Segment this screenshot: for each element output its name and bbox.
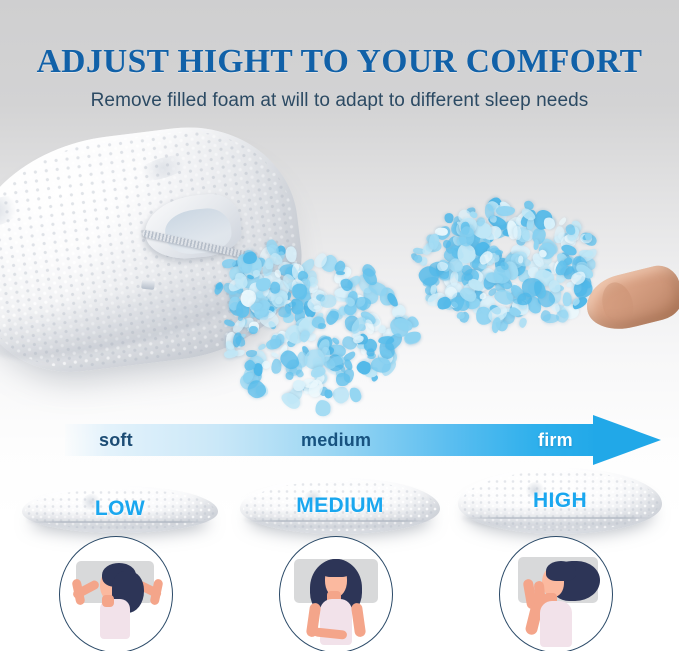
header: ADJUST HIGHT TO YOUR COMFORT Remove fill… <box>0 42 679 113</box>
foam-spill <box>196 224 426 406</box>
foam-fleck <box>224 318 236 327</box>
foam-fleck <box>495 250 503 256</box>
hair-top <box>546 561 576 581</box>
foam-fleck <box>330 384 352 405</box>
foam-fleck <box>324 389 333 399</box>
foam-fleck <box>292 284 307 300</box>
hair-top <box>321 559 351 577</box>
woman-with-high-pillow-icon <box>500 537 612 651</box>
woman-with-medium-pillow-icon <box>280 537 392 651</box>
pillow-logo-emboss-secondary <box>133 150 194 186</box>
foam-fleck <box>336 373 350 386</box>
foam-fleck <box>245 349 257 357</box>
illustration-row <box>0 536 679 651</box>
pillow-medium: MEDIUM <box>240 478 440 534</box>
foam-fleck <box>278 306 292 317</box>
garment <box>540 601 572 647</box>
zipper-pull-icon <box>141 280 155 290</box>
foam-fleck <box>317 323 326 329</box>
hand-photo <box>581 261 679 337</box>
foam-fleck <box>518 317 528 328</box>
page-subtitle: Remove filled foam at will to adapt to d… <box>0 89 679 113</box>
foam-fleck <box>269 334 280 349</box>
arm-right <box>351 602 367 637</box>
foam-fleck <box>496 206 516 216</box>
foam-fleck <box>270 282 280 294</box>
pillow-seam <box>248 520 432 522</box>
pillow-seam <box>30 521 210 523</box>
foam-fleck <box>285 246 297 263</box>
pillow-high: HIGH <box>458 468 662 534</box>
pillow-logo-emboss <box>0 190 26 232</box>
pillow-label-low: LOW <box>22 498 218 520</box>
illustration-low <box>59 536 173 651</box>
neck <box>102 595 114 607</box>
firmness-label-medium: medium <box>301 430 371 450</box>
foam-fleck <box>562 292 571 306</box>
firmness-label-soft: soft <box>99 430 133 450</box>
pillow-low: LOW <box>22 486 218 533</box>
illustration-high <box>499 536 613 651</box>
pillow-label-high: HIGH <box>458 490 662 512</box>
infographic-page: ADJUST HIGHT TO YOUR COMFORT Remove fill… <box>0 0 679 651</box>
foam-fleck <box>223 349 238 359</box>
foam-clump-in-hand <box>404 186 636 346</box>
pillow-seam <box>466 517 654 519</box>
foam-fleck <box>249 326 258 334</box>
illustration-medium <box>279 536 393 651</box>
foam-fleck <box>286 372 294 380</box>
firmness-label-firm: firm <box>538 430 573 450</box>
foam-fleck <box>558 216 567 226</box>
foam-fleck <box>543 216 557 231</box>
pillow-label-medium: MEDIUM <box>240 495 440 517</box>
foam-fleck <box>270 351 279 358</box>
page-title: ADJUST HIGHT TO YOUR COMFORT <box>0 42 679 82</box>
woman-with-low-pillow-icon <box>60 537 172 651</box>
foam-fleck <box>315 400 330 416</box>
foam-fleck <box>456 244 476 264</box>
pillow-height-row: LOW MEDIUM HIGH <box>0 452 679 534</box>
foam-fleck <box>348 386 363 404</box>
hero-product-photo <box>0 128 679 406</box>
